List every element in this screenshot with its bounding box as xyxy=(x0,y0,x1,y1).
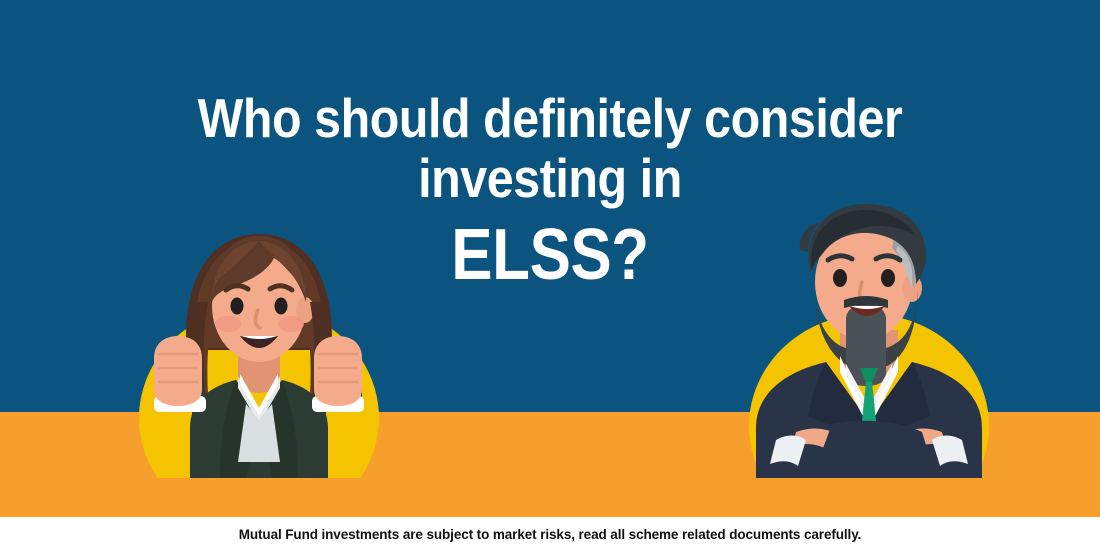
elss-promo-banner: Who should definitely consider investing… xyxy=(0,0,1100,550)
character-illustration-woman xyxy=(128,218,390,478)
disclaimer-text: Mutual Fund investments are subject to m… xyxy=(0,520,1100,550)
character-illustration-man xyxy=(736,196,1002,478)
